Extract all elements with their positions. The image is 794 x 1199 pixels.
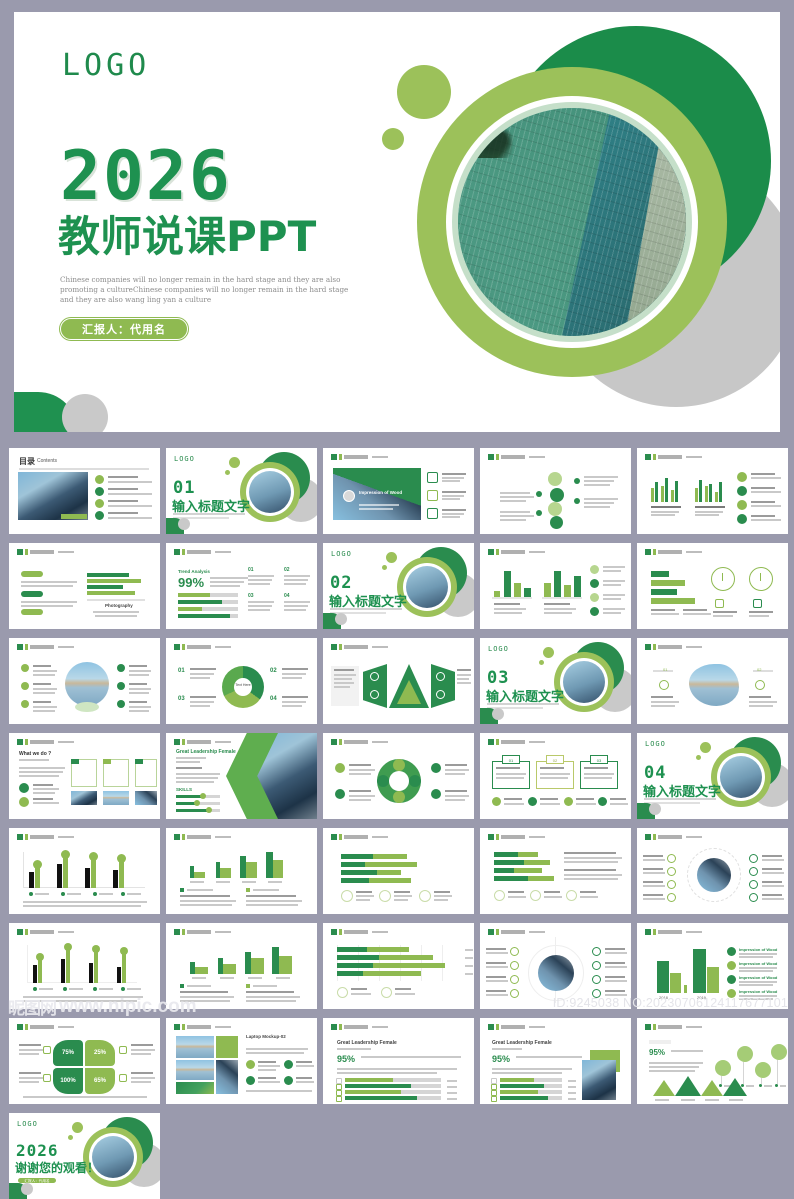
thumbnail-grid: 目录 Contents LOGO xyxy=(9,448,787,1199)
thumbnail-pie-percent[interactable]: 75% 25% 100% 65% xyxy=(9,1018,160,1104)
image-caption: Impression of Wood xyxy=(359,490,402,496)
thumbnail-tri-icons[interactable] xyxy=(323,638,474,724)
donut-label-4: 04 xyxy=(270,696,277,702)
thumbnail-donut[interactable]: Text Here 01 02 03 04 xyxy=(166,638,317,724)
year-legend-2: Impression of Wood xyxy=(739,961,777,966)
thumbnail-dual-bar[interactable] xyxy=(637,448,788,534)
text-bar-caption: Photography xyxy=(105,603,133,608)
section-number: 02 xyxy=(330,573,352,593)
thumbnail-ring-6[interactable] xyxy=(9,828,160,914)
box-num-2: 02 xyxy=(546,755,564,764)
thumbnail-radial-photo[interactable] xyxy=(637,828,788,914)
contents-title: 目录 xyxy=(19,456,35,467)
hero-slide[interactable]: LOGO 2026 教师说课PPT Chinese companies will… xyxy=(14,12,780,432)
thumbnail-boxes-3[interactable]: 01 02 03 xyxy=(480,733,631,819)
percent-bars-title: Great Leadership Female xyxy=(337,1040,397,1046)
decor-dot-small xyxy=(382,128,404,150)
box-num-3: 03 xyxy=(590,755,608,764)
thanks-logo: LOGO xyxy=(17,1120,38,1128)
thumbnail-contents[interactable]: 目录 Contents xyxy=(9,448,160,534)
thumbnail-column-pair[interactable] xyxy=(480,543,631,629)
percent-subtitle: Trend Analysis xyxy=(178,569,210,574)
pie-value-3: 100% xyxy=(53,1068,83,1094)
percent-value: 99% xyxy=(178,575,204,590)
thumbnail-percent-bars-2[interactable]: Great Leadership Female 95% xyxy=(480,1018,631,1104)
year-legend-1: Impression of Wood xyxy=(739,947,777,952)
thumbnail-bar-clock[interactable] xyxy=(637,543,788,629)
section-number: 03 xyxy=(487,668,509,688)
section-number: 04 xyxy=(644,763,666,783)
thumbnail-cards[interactable]: What we do ? xyxy=(9,733,160,819)
hero-presenter-pill: 汇报人：代用名 xyxy=(60,318,188,340)
thumbnail-hbar-grid[interactable] xyxy=(323,923,474,1009)
thumbnail-section-03[interactable]: LOGO 03 输入标题文字 xyxy=(480,638,631,724)
thumbnail-section-01[interactable]: LOGO 01 输入标题文字 xyxy=(166,448,317,534)
donut-center-label: Text Here xyxy=(234,683,252,687)
donut-label-1: 01 xyxy=(178,668,185,674)
percent-bars2-title: Great Leadership Female xyxy=(492,1040,552,1046)
thumbnail-circle-photo[interactable] xyxy=(9,638,160,724)
percent-bars2-value: 95% xyxy=(492,1054,510,1064)
skills-title: Great Leadership Female xyxy=(176,749,236,755)
section-logo: LOGO xyxy=(174,455,195,463)
year-legend-4: Impression of Wood xyxy=(739,989,777,994)
watermark: 昵图网 www.nipic.com xyxy=(8,994,197,1019)
thumbnail-hbar-text[interactable] xyxy=(480,828,631,914)
hero-building-photo xyxy=(458,108,686,336)
section-number: 01 xyxy=(173,478,195,498)
thumbnail-section-02[interactable]: LOGO 02 输入标题文字 xyxy=(323,543,474,629)
donut-label-2: 02 xyxy=(270,668,277,674)
skills-label: SKILLS xyxy=(176,787,192,792)
pie-value-2: 25% xyxy=(85,1040,115,1066)
thumbnail-thanks[interactable]: LOGO 2026 谢谢您的观看！ 汇报人：代用名 xyxy=(9,1113,160,1199)
thumbnail-step-bar[interactable] xyxy=(166,828,317,914)
thumbnail-skills[interactable]: Great Leadership Female SKILLS xyxy=(166,733,317,819)
thumbnail-percent-list[interactable]: Trend Analysis 99% 01 02 03 04 xyxy=(166,543,317,629)
thumbnail-percent-bars[interactable]: Great Leadership Female 95% xyxy=(323,1018,474,1104)
section-logo: LOGO xyxy=(331,550,352,558)
hero-title: 教师说课PPT xyxy=(58,215,316,259)
thumbnail-image-list[interactable]: Impression of Wood xyxy=(323,448,474,534)
box-num-1: 01 xyxy=(502,755,520,764)
hero-year: 2026 xyxy=(60,146,232,208)
thumbnail-hbar-icons[interactable] xyxy=(323,828,474,914)
mockup-title: Laptop Mockup-02 xyxy=(246,1034,286,1040)
pie-value-4: 65% xyxy=(85,1068,115,1094)
percent-bars-value: 95% xyxy=(337,1054,355,1064)
thumbnail-mountains[interactable]: 95% xyxy=(637,1018,788,1104)
pie-value-1: 75% xyxy=(53,1040,83,1066)
hero-subtitle: Chinese companies will no longer remain … xyxy=(60,275,360,305)
decor-corner-gray xyxy=(62,394,108,432)
decor-dot-large xyxy=(397,65,451,119)
mountains-percent: 95% xyxy=(649,1048,665,1057)
thanks-year: 2026 xyxy=(16,1141,59,1160)
watermark-url: www.nipic.com xyxy=(59,996,197,1018)
thumbnail-mockup[interactable]: Laptop Mockup-02 xyxy=(166,1018,317,1104)
section-logo: LOGO xyxy=(488,645,509,653)
year-legend-3: Impression of Wood xyxy=(739,975,777,980)
cards-title: What we do ? xyxy=(19,751,51,757)
contents-title-en: Contents xyxy=(37,458,57,464)
thumbnail-text-bar[interactable]: Photography xyxy=(9,543,160,629)
section-logo: LOGO xyxy=(645,740,666,748)
thumbnail-hex-flow[interactable] xyxy=(480,448,631,534)
thumbnail-blob-photo[interactable]: 01 02 xyxy=(637,638,788,724)
thanks-title: 谢谢您的观看！ xyxy=(15,1159,99,1176)
hero-logo: LOGO xyxy=(62,48,150,83)
thumbnail-section-04[interactable]: LOGO 04 输入标题文字 xyxy=(637,733,788,819)
donut-label-3: 03 xyxy=(178,696,185,702)
thumbnail-ring-4[interactable] xyxy=(323,733,474,819)
watermark-id: ID:9245038 NO:20230706124117677101 xyxy=(553,996,788,1010)
watermark-brand: 昵图网 xyxy=(8,994,56,1019)
